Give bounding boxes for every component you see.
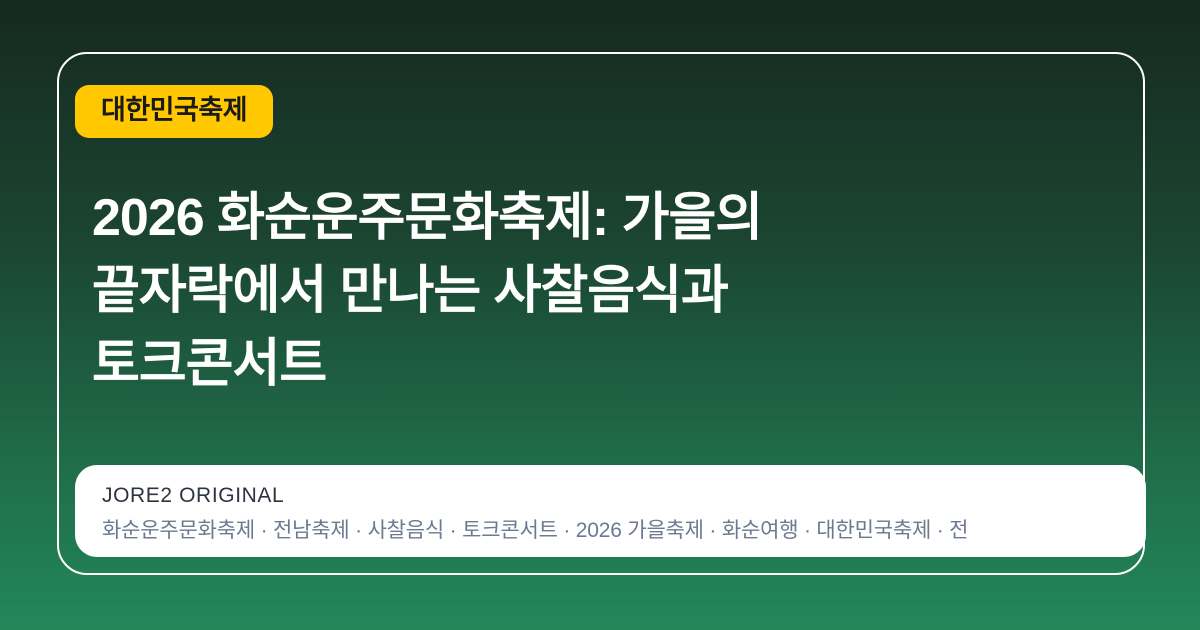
meta-card: JORE2 ORIGINAL 화순운주문화축제 · 전남축제 · 사찰음식 · … <box>75 465 1146 557</box>
page-title: 2026 화순운주문화축제: 가을의 끝자락에서 만나는 사찰음식과 토크콘서트 <box>92 182 952 400</box>
brand-kicker: JORE2 ORIGINAL <box>102 485 1146 506</box>
og-card-canvas: 대한민국축제 2026 화순운주문화축제: 가을의 끝자락에서 만나는 사찰음식… <box>0 0 1200 630</box>
category-badge: 대한민국축제 <box>75 85 273 138</box>
card-content: 대한민국축제 2026 화순운주문화축제: 가을의 끝자락에서 만나는 사찰음식… <box>57 52 1145 575</box>
tag-list: 화순운주문화축제 · 전남축제 · 사찰음식 · 토크콘서트 · 2026 가을… <box>102 520 1146 541</box>
